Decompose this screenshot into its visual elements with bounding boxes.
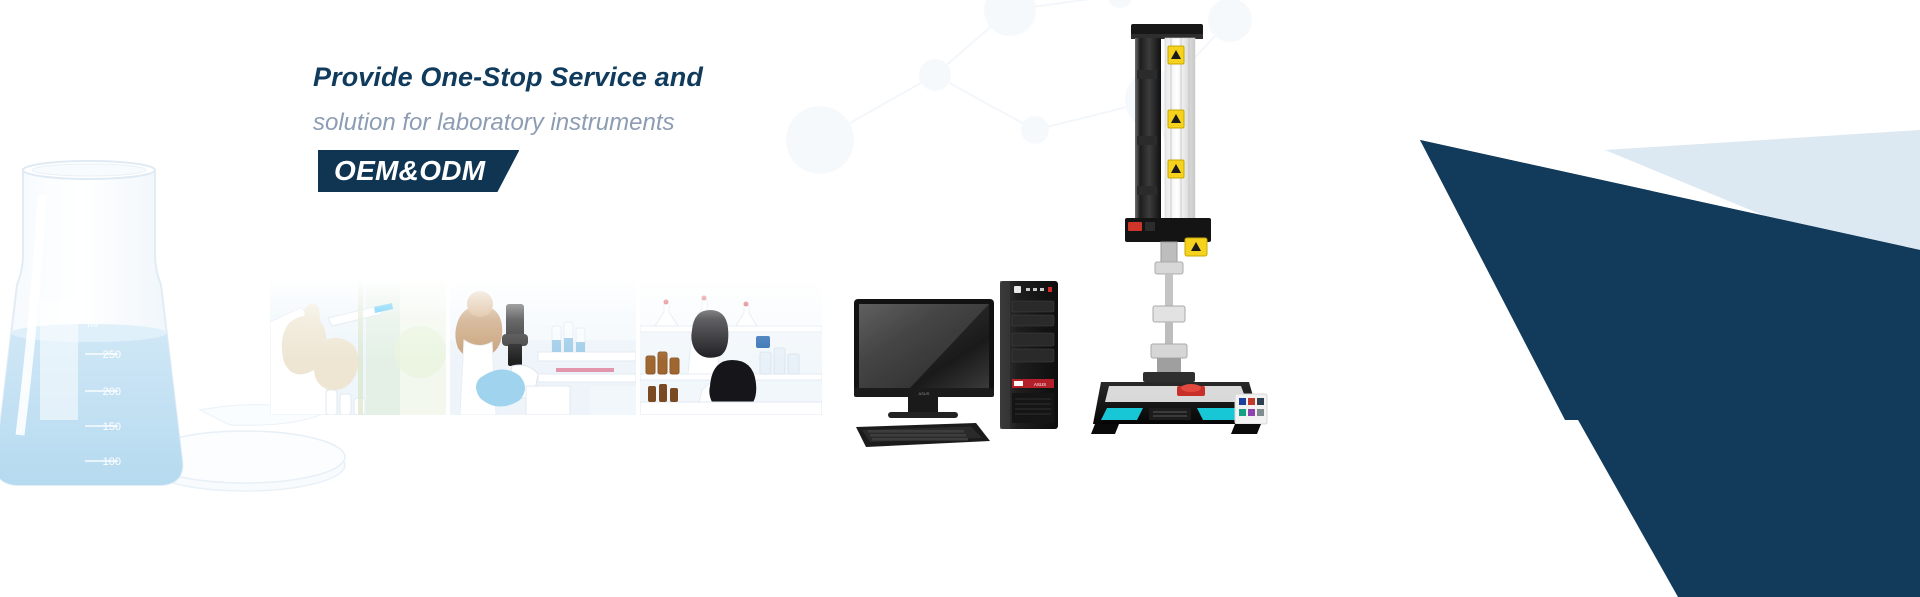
grip-assembly: [1143, 242, 1195, 382]
svg-text:ASUS: ASUS: [1034, 382, 1046, 387]
machine-base: [1091, 382, 1267, 434]
photo-lab-bench: [640, 282, 822, 415]
keyboard: [856, 423, 990, 447]
photo-pipetting: [270, 282, 446, 415]
badge-label: OEM&ODM: [334, 155, 485, 187]
banner-stage: 250 200 150 100 ml Provide One-Stop Serv…: [0, 0, 1920, 597]
desktop-computer: ASUS ASUS: [850, 275, 1110, 455]
computer-tower: ASUS: [1000, 281, 1058, 429]
triangle-dark-lower: [1420, 140, 1920, 597]
badge-wrapper: OEM&ODM: [313, 150, 1093, 192]
triangle-light: [1605, 130, 1920, 280]
svg-text:250: 250: [103, 349, 121, 361]
oem-odm-badge: OEM&ODM: [318, 150, 519, 192]
photo-microscope: [450, 282, 636, 415]
headline-block: Provide One-Stop Service and solution fo…: [313, 58, 1093, 192]
svg-text:ASUS: ASUS: [919, 391, 930, 396]
headline-line-2: solution for laboratory instruments: [313, 104, 1093, 142]
svg-text:150: 150: [103, 421, 121, 433]
monitor: ASUS: [854, 299, 994, 418]
svg-text:100: 100: [103, 456, 121, 468]
svg-text:200: 200: [103, 386, 121, 398]
corner-accent-triangles: [1420, 120, 1920, 597]
headline-line-1: Provide One-Stop Service and: [313, 58, 1093, 96]
universal-testing-machine: [1085, 10, 1295, 455]
erlenmeyer-flask: 250 200 150 100 ml: [0, 161, 190, 493]
photo-strip: [270, 282, 822, 415]
triangle-dark: [1420, 140, 1920, 420]
svg-text:ml: ml: [87, 319, 98, 330]
